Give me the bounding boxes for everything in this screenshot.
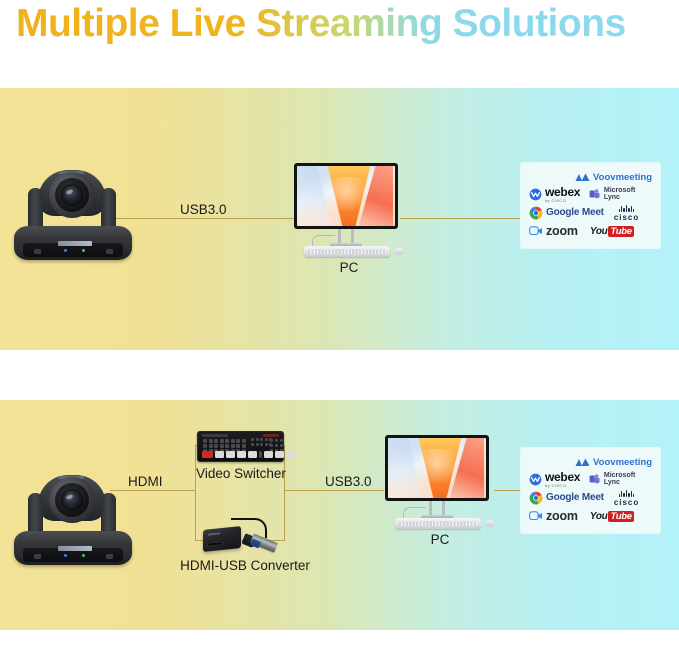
solution-panel-switcher-converter: HDMI USB3.0: [0, 400, 679, 630]
keyboard-keys: [399, 521, 477, 526]
webex-icon: [529, 473, 542, 486]
wallpaper-haze: [413, 449, 460, 485]
camera-power-led: [64, 249, 67, 252]
logo-cisco: cisco: [614, 204, 639, 222]
monitor-stand-neck-left: [429, 501, 432, 515]
connection-label-hdmi: HDMI: [128, 474, 163, 489]
microsoft-lync-label: Microsoft Lync: [604, 472, 652, 486]
camera-ir-receiver-2: [106, 249, 113, 254]
pc-workstation: PC: [294, 163, 404, 258]
google-meet-icon: [529, 491, 543, 505]
monitor-stand-neck-left: [338, 229, 341, 243]
keyboard[interactable]: [304, 246, 390, 257]
logo-youtube: You Tube: [590, 511, 634, 522]
monitor-bezel: [294, 163, 398, 229]
line-pc-to-platforms-2: [494, 490, 522, 491]
google-meet-label: Google Meet: [546, 492, 604, 503]
logo-cisco: cisco: [614, 489, 639, 507]
switcher-program-row[interactable]: [202, 451, 295, 458]
camera-brand-logo: [58, 546, 92, 551]
logo-zoom: zoom: [529, 509, 578, 523]
logo-row-2: webex by CISCO Microsoft Lync: [529, 185, 652, 203]
camera-ir-receiver: [34, 249, 41, 254]
camera-brand-logo: [58, 241, 92, 246]
logo-microsoft-lync: Microsoft Lync: [589, 472, 652, 486]
line-pc-to-platforms: [400, 218, 520, 219]
logo-google-meet: Google Meet: [529, 491, 604, 505]
logo-row-4: zoom You Tube: [529, 222, 652, 240]
voovmeeting-label: Voovmeeting: [593, 172, 652, 183]
logo-zoom: zoom: [529, 224, 578, 238]
logo-voovmeeting: Voovmeeting: [575, 457, 652, 468]
youtube-you-label: You: [590, 511, 608, 522]
line-bus-right: [284, 445, 285, 540]
streaming-platforms-card-2: Voovmeeting webex by CISCO: [521, 448, 660, 533]
camera-power-led: [64, 554, 67, 557]
cisco-label: cisco: [614, 213, 639, 222]
logo-google-meet: Google Meet: [529, 206, 604, 220]
logo-row-1: Voovmeeting: [529, 455, 652, 470]
camera-status-led: [82, 554, 85, 557]
wallpaper-haze: [322, 177, 369, 213]
camera-status-led: [82, 249, 85, 252]
logo-microsoft-lync: Microsoft Lync: [589, 187, 652, 201]
google-meet-label: Google Meet: [546, 207, 604, 218]
cisco-icon: [619, 204, 635, 212]
cisco-icon: [619, 489, 635, 497]
microsoft-lync-label: Microsoft Lync: [604, 187, 652, 201]
mouse[interactable]: [485, 520, 495, 527]
google-meet-icon: [529, 206, 543, 220]
logo-voovmeeting: Voovmeeting: [575, 172, 652, 183]
monitor-screen: [297, 166, 395, 226]
webex-label: webex: [545, 470, 580, 484]
ptz-camera: [14, 150, 132, 260]
switcher-red-strip: [263, 434, 279, 437]
converter-body: [203, 526, 241, 552]
microsoft-lync-icon: [589, 473, 601, 485]
pc-workstation-2: PC: [385, 435, 495, 530]
zoom-label: zoom: [546, 509, 578, 523]
video-switcher[interactable]: [197, 431, 284, 462]
switcher-brand-strip: [202, 434, 228, 437]
logo-row-1: Voovmeeting: [529, 170, 652, 185]
voovmeeting-icon: [575, 172, 590, 183]
webex-icon: [529, 188, 542, 201]
logo-webex: webex by CISCO: [529, 185, 580, 203]
solution-panel-usb-direct: USB3.0 PC: [0, 88, 679, 350]
connection-label-usb30: USB3.0: [180, 202, 227, 217]
switcher-button-grid-mid[interactable]: [251, 438, 272, 446]
connection-label-usb30-2: USB3.0: [325, 474, 372, 489]
mouse[interactable]: [394, 248, 404, 255]
monitor-bezel: [385, 435, 489, 501]
zoom-icon: [529, 225, 543, 237]
webex-label: webex: [545, 185, 580, 199]
cisco-label: cisco: [614, 498, 639, 507]
line-bus-left: [195, 445, 196, 540]
voovmeeting-label: Voovmeeting: [593, 457, 652, 468]
camera-lens-glass: [61, 184, 83, 206]
hdmi-usb-converter: [203, 512, 283, 558]
monitor-stand-neck-right: [442, 501, 445, 515]
youtube-tube-label: Tube: [608, 226, 633, 237]
webex-sublabel: by CISCO: [545, 483, 580, 488]
youtube-tube-label: Tube: [608, 511, 633, 522]
monitor-stand-neck-right: [351, 229, 354, 243]
keyboard-cable: [312, 235, 335, 246]
camera-ir-receiver: [34, 554, 41, 559]
webex-sublabel: by CISCO: [545, 198, 580, 203]
pc-caption-2: PC: [415, 532, 465, 547]
zoom-label: zoom: [546, 224, 578, 238]
logo-row-3: Google Meet cisco: [529, 203, 652, 222]
page-title: Multiple Live Streaming Solutions: [16, 0, 676, 50]
monitor-screen: [388, 438, 486, 498]
logo-row-4: zoom You Tube: [529, 507, 652, 525]
logo-row-2: webex by CISCO Microsoft Lync: [529, 470, 652, 488]
ptz-camera-2: [14, 455, 132, 565]
video-switcher-caption: Video Switcher: [196, 466, 286, 481]
keyboard-keys: [308, 249, 386, 254]
line-camera-to-pc: [110, 218, 295, 219]
voovmeeting-icon: [575, 457, 590, 468]
camera-ir-receiver-2: [106, 554, 113, 559]
microsoft-lync-icon: [589, 188, 601, 200]
camera-lens-glass: [61, 489, 83, 511]
line-junction-to-pc: [284, 490, 384, 491]
logo-row-3: Google Meet cisco: [529, 488, 652, 507]
pc-caption: PC: [324, 260, 374, 275]
logo-webex: webex by CISCO: [529, 470, 580, 488]
zoom-icon: [529, 510, 543, 522]
streaming-platforms-card: Voovmeeting webex by CISCO: [521, 163, 660, 248]
keyboard-cable: [403, 507, 426, 518]
logo-youtube: You Tube: [590, 226, 634, 237]
keyboard[interactable]: [395, 518, 481, 529]
youtube-you-label: You: [590, 226, 608, 237]
hdmi-usb-converter-caption: HDMI-USB Converter: [175, 558, 315, 573]
